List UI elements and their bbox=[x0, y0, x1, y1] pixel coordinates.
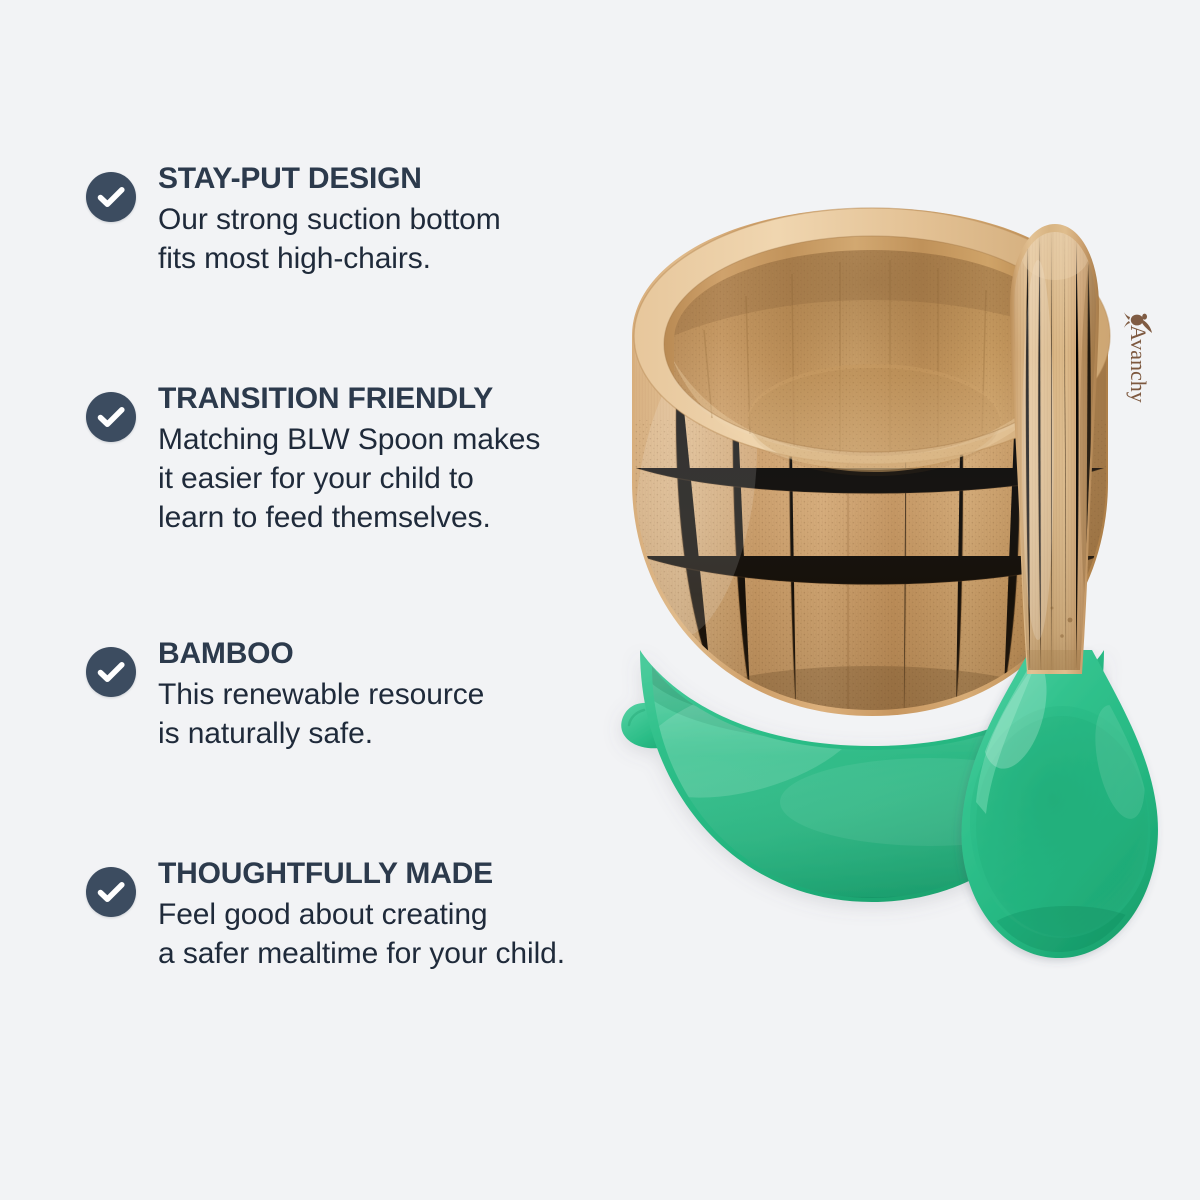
feature-title: STAY-PUT DESIGN bbox=[158, 162, 501, 196]
spoon-head bbox=[961, 645, 1158, 974]
feature-body: This renewable resource is naturally saf… bbox=[158, 675, 484, 753]
feature-body-line: a safer mealtime for your child. bbox=[158, 934, 565, 973]
feature-body: Feel good about creating a safer mealtim… bbox=[158, 895, 565, 973]
feature-body-line: Our strong suction bottom bbox=[158, 200, 501, 239]
check-circle-icon bbox=[86, 647, 136, 697]
feature-body-line: it easier for your child to bbox=[158, 459, 540, 498]
feature-item-thoughtfully-made: THOUGHTFULLY MADE Feel good about creati… bbox=[86, 857, 565, 973]
feature-body-line: is naturally safe. bbox=[158, 714, 484, 753]
feature-body: Our strong suction bottom fits most high… bbox=[158, 200, 501, 278]
product-image bbox=[600, 150, 1200, 980]
feature-item-bamboo: BAMBOO This renewable resource is natura… bbox=[86, 637, 484, 753]
feature-body-line: Matching BLW Spoon makes bbox=[158, 420, 540, 459]
feature-title: THOUGHTFULLY MADE bbox=[158, 857, 565, 891]
check-circle-icon bbox=[86, 867, 136, 917]
feature-item-stay-put-design: STAY-PUT DESIGN Our strong suction botto… bbox=[86, 162, 501, 278]
feature-body-line: fits most high-chairs. bbox=[158, 239, 501, 278]
check-circle-icon bbox=[86, 172, 136, 222]
feature-body-line: This renewable resource bbox=[158, 675, 484, 714]
feature-body: Matching BLW Spoon makes it easier for y… bbox=[158, 420, 540, 537]
feature-body-line: Feel good about creating bbox=[158, 895, 565, 934]
feature-title: TRANSITION FRIENDLY bbox=[158, 382, 540, 416]
feature-body-line: learn to feed themselves. bbox=[158, 498, 540, 537]
check-circle-icon bbox=[86, 392, 136, 442]
feature-title: BAMBOO bbox=[158, 637, 484, 671]
feature-item-transition-friendly: TRANSITION FRIENDLY Matching BLW Spoon m… bbox=[86, 382, 540, 537]
infographic-canvas: Avanchy STAY-PUT DESIGN Our strong sucti… bbox=[0, 0, 1200, 1200]
